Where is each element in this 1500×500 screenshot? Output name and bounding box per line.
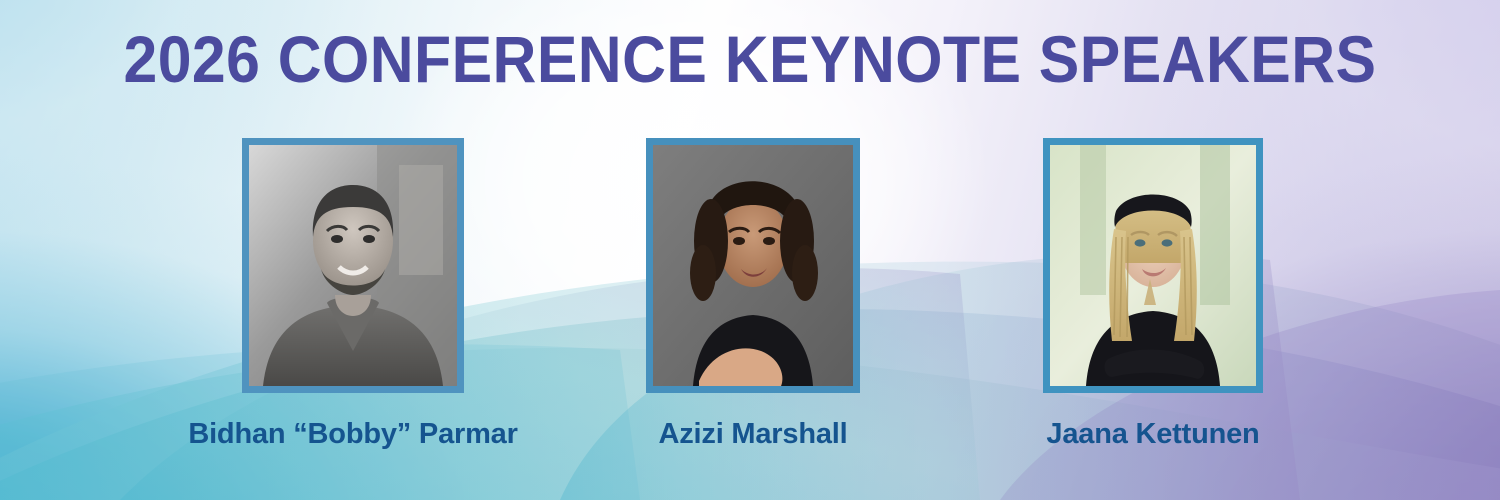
speaker-photo-frame: [1043, 138, 1263, 393]
speaker-name: Bidhan “Bobby” Parmar: [188, 418, 517, 451]
keynote-speakers-banner: 2026 CONFERENCE KEYNOTE SPEAKERS: [0, 0, 1500, 500]
speaker-name: Jaana Kettunen: [1046, 418, 1259, 451]
speaker-photo-frame: [242, 138, 464, 393]
page-title: 2026 CONFERENCE KEYNOTE SPEAKERS: [60, 26, 1440, 92]
portrait-bidhan-parmar-image: [249, 145, 457, 386]
speakers-row: Bidhan “Bobby” Parmar: [0, 138, 1500, 451]
portrait-jaana-kettunen-image: [1050, 145, 1256, 386]
speaker-card-jaana-kettunen: Jaana Kettunen: [1042, 138, 1264, 451]
speaker-photo-frame: [646, 138, 860, 393]
speaker-card-azizi-marshall: Azizi Marshall: [642, 138, 864, 451]
speaker-card-bidhan-parmar: Bidhan “Bobby” Parmar: [242, 138, 464, 451]
portrait-azizi-marshall-image: [653, 145, 853, 386]
speaker-name: Azizi Marshall: [659, 418, 848, 451]
